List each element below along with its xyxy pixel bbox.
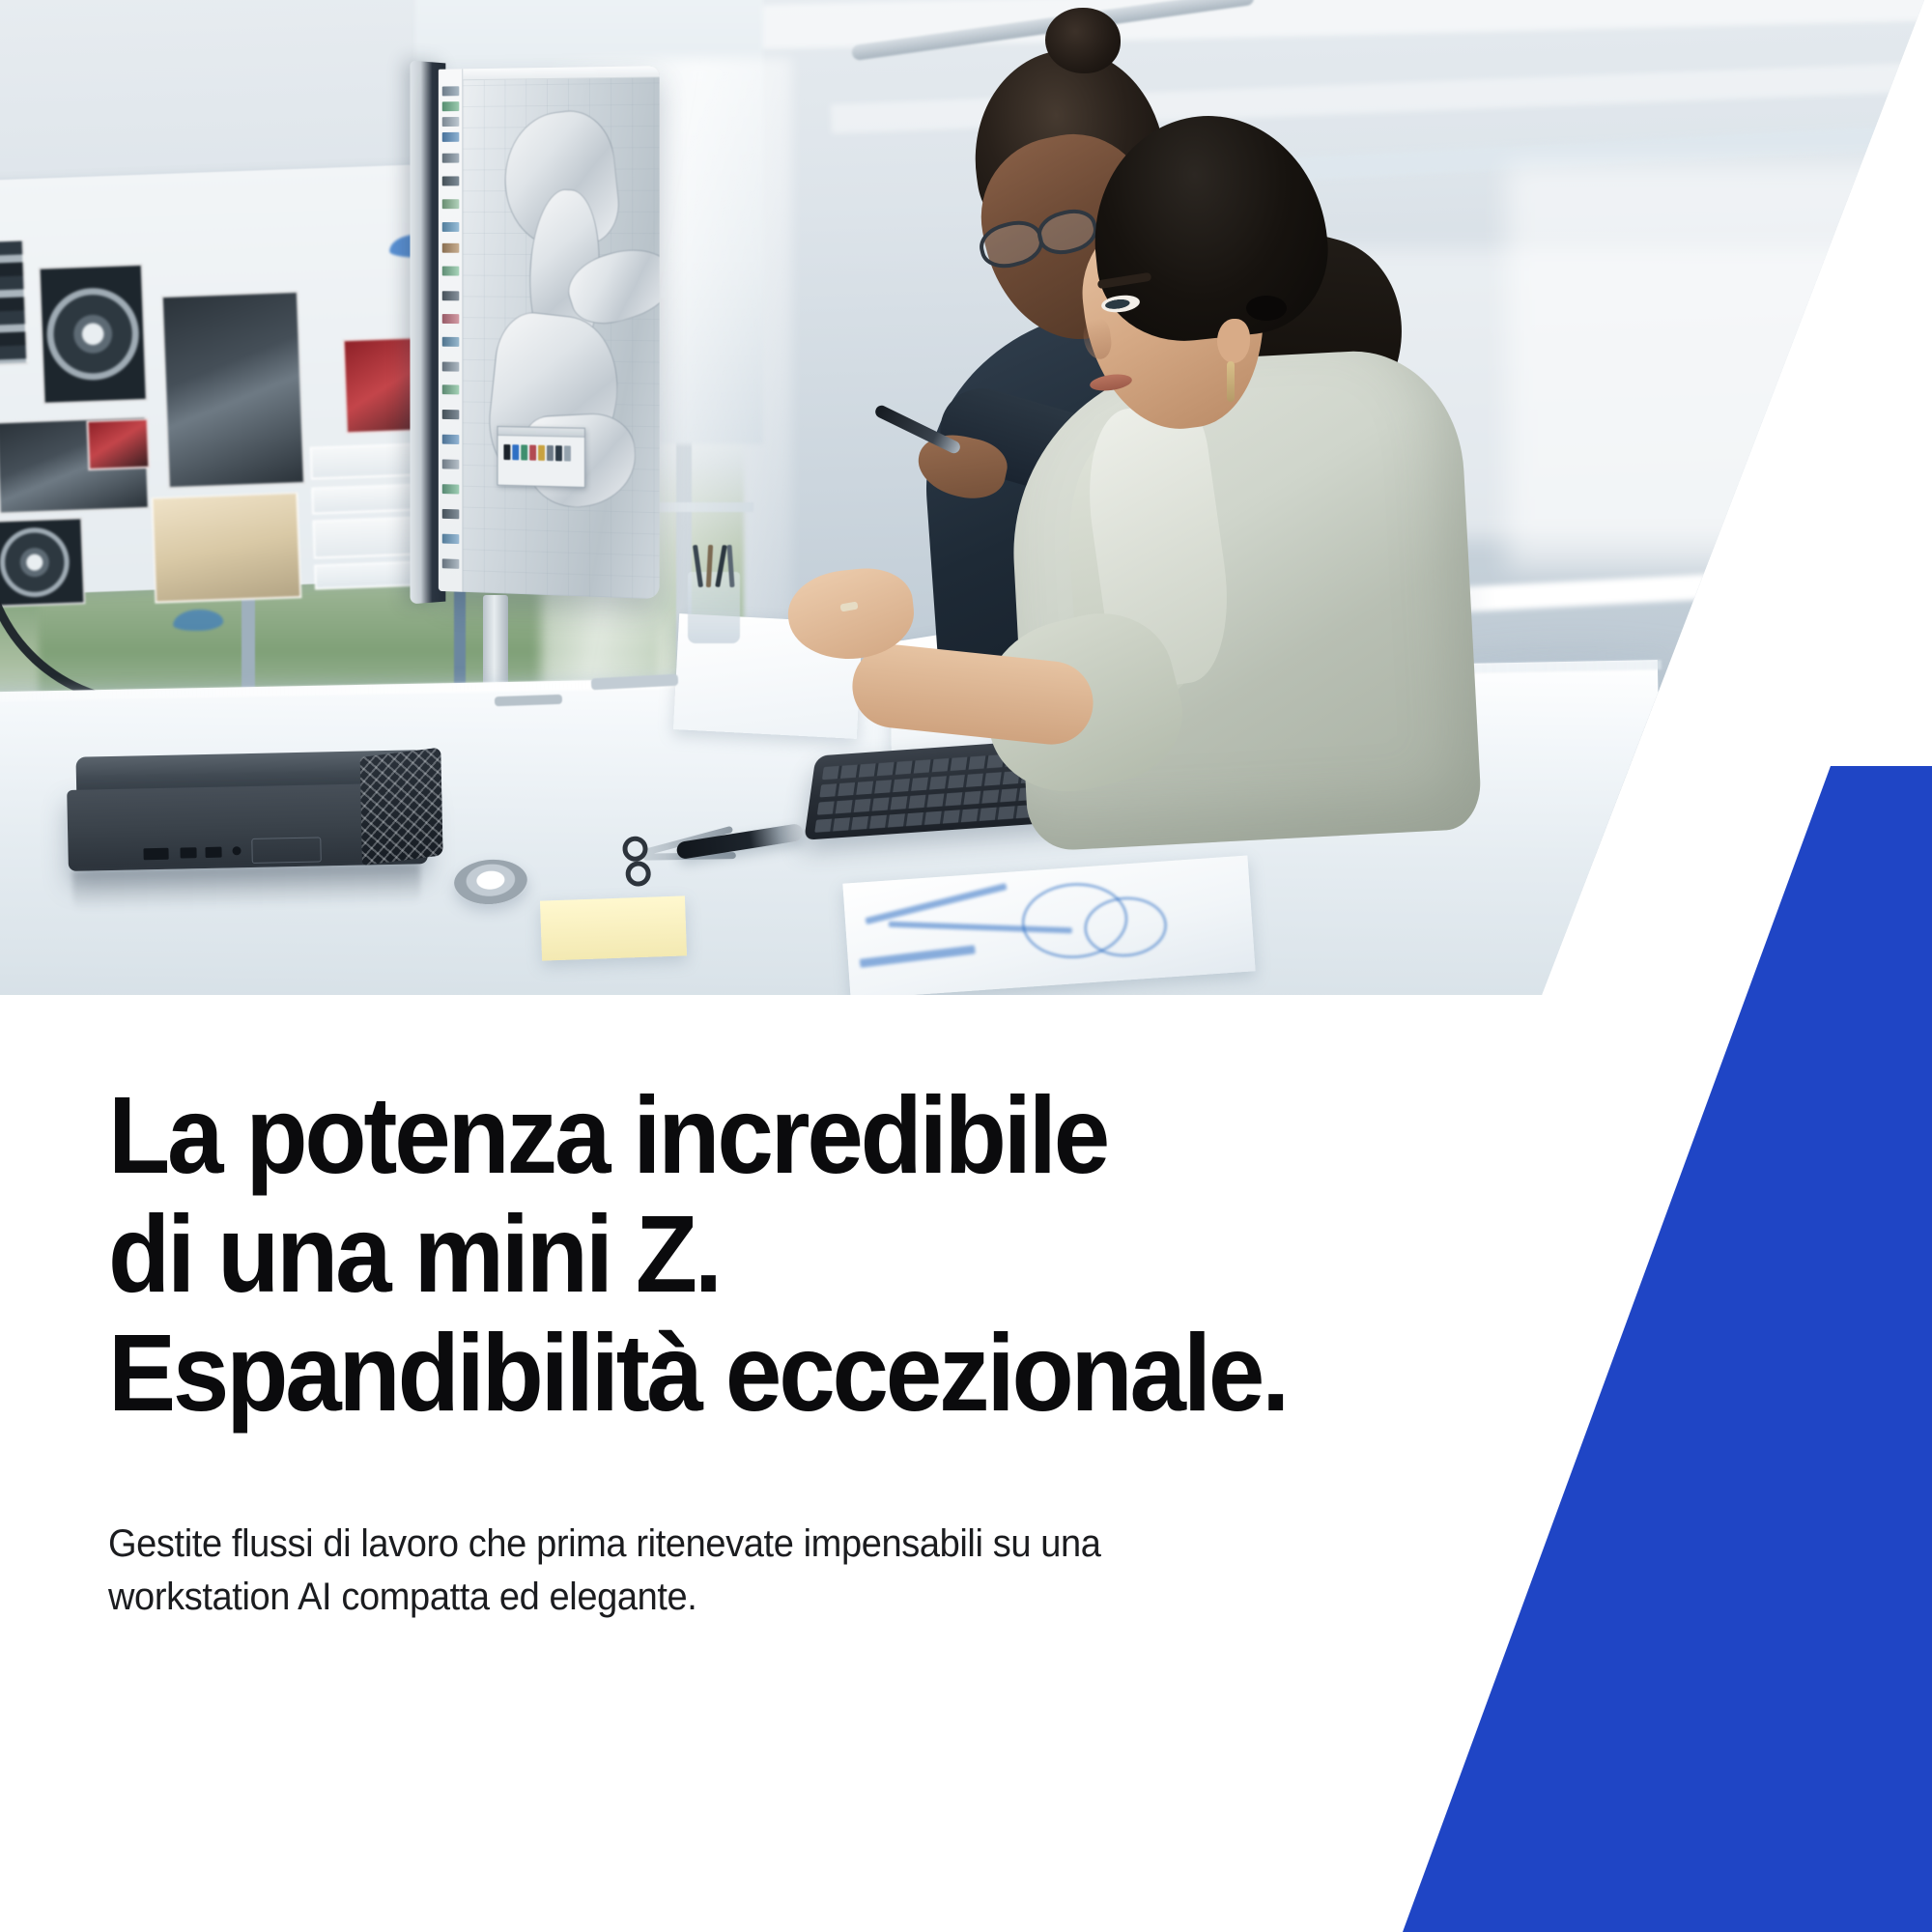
cad-tool-icon [442, 337, 460, 347]
cad-tool-icon [442, 558, 460, 568]
usb-c-port [205, 847, 221, 858]
workstation-mesh-grille [360, 747, 443, 866]
page-subheadline: Gestite flussi di lavoro che prima riten… [108, 1518, 1191, 1623]
cad-tool-icon [442, 410, 460, 419]
cad-tool-icon [442, 362, 460, 372]
blueprint-line [860, 945, 976, 968]
palette-swatch[interactable] [503, 444, 510, 460]
moodboard-image [0, 239, 28, 366]
person-hair [1083, 104, 1337, 350]
cad-tool-icon [442, 199, 460, 209]
cad-tool-icon [442, 267, 460, 276]
cad-tool-icon [442, 154, 460, 163]
cad-tool-icon [442, 484, 460, 494]
blueprint-line [865, 883, 1007, 924]
person-ear [1217, 319, 1250, 363]
cad-tool-icon [442, 132, 460, 142]
monitor-cable [0, 409, 401, 713]
cad-tool-icon [442, 459, 460, 469]
palette-swatch[interactable] [529, 445, 536, 461]
cad-tool-icon [442, 291, 460, 300]
usb-c-port [180, 847, 196, 858]
cad-tool-icon [442, 243, 460, 253]
cad-tool-icon [442, 384, 460, 394]
cad-tool-icon [442, 534, 460, 544]
palette-swatch[interactable] [512, 444, 519, 460]
cad-tool-icon [442, 176, 460, 185]
palette-swatch[interactable] [538, 445, 545, 461]
cad-tool-icon [442, 435, 460, 444]
promo-canvas: La potenza incredibile di una mini Z. Es… [0, 0, 1932, 1932]
hair-tie [1246, 296, 1287, 321]
cad-tool-icon [442, 86, 460, 96]
person-foreground [1041, 116, 1466, 831]
cad-toolbar [439, 69, 463, 591]
curved-monitor [379, 62, 688, 680]
palette-swatch[interactable] [564, 445, 571, 461]
scissor-handle [624, 860, 652, 888]
text-block: La potenza incredibile di una mini Z. Es… [0, 995, 1488, 1623]
page-headline: La potenza incredibile di una mini Z. Es… [108, 1076, 1310, 1433]
cad-tool-icon [442, 314, 460, 324]
cad-tool-icon [442, 117, 460, 127]
cad-tool-icon [442, 101, 460, 111]
moodboard-image [39, 264, 148, 405]
cad-color-palette-dialog[interactable] [497, 426, 585, 488]
palette-swatch[interactable] [521, 444, 527, 460]
mini-workstation [60, 750, 440, 902]
usb-a-port [143, 848, 168, 861]
person-hair-bun [1045, 8, 1121, 73]
dialog-titlebar [498, 427, 584, 438]
workstation-reflection [72, 864, 421, 912]
workstation-front-panel [251, 837, 322, 864]
person-earring [1227, 361, 1235, 402]
cad-tool-icon [442, 509, 460, 519]
cad-tool-icon [442, 222, 460, 232]
sticky-note [540, 895, 687, 960]
monitor-screen [439, 66, 660, 599]
pen-cup [688, 572, 740, 643]
palette-swatch[interactable] [547, 445, 554, 461]
palette-swatch[interactable] [555, 445, 562, 461]
